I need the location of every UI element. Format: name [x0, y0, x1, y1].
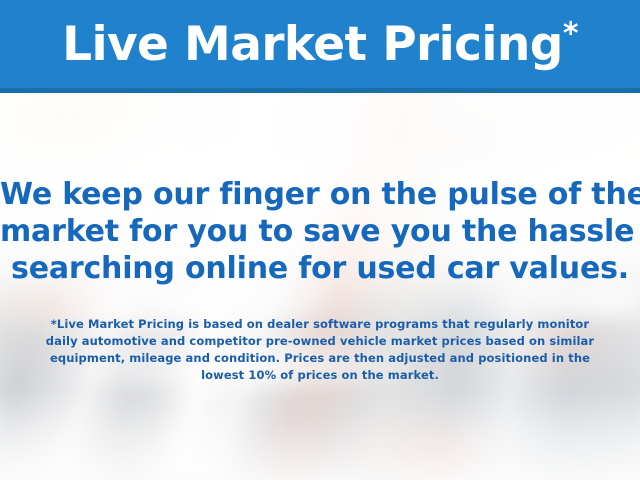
header-banner-bottom-edge: [0, 88, 640, 93]
disclaimer-line-2: daily automotive and competitor pre-owne…: [0, 333, 640, 350]
page-title-asterisk: *: [563, 16, 578, 51]
page-title: Live Market Pricing*: [62, 21, 578, 72]
live-market-pricing-banner: Live Market Pricing* We keep our finger …: [0, 0, 640, 480]
disclaimer-line-1: *Live Market Pricing is based on dealer …: [0, 316, 640, 333]
header-banner: Live Market Pricing*: [0, 0, 640, 93]
disclaimer-line-4: lowest 10% of prices on the market.: [0, 367, 640, 384]
disclaimer-line-3: equipment, mileage and condition. Prices…: [0, 350, 640, 367]
disclaimer-block: *Live Market Pricing is based on dealer …: [0, 316, 640, 384]
headline-line-2: market for you to save you the hassle of: [0, 213, 640, 250]
headline-block: We keep our finger on the pulse of the m…: [0, 176, 640, 287]
headline-line-1: We keep our finger on the pulse of the: [0, 176, 640, 213]
headline-line-3: searching online for used car values.: [0, 250, 640, 287]
page-title-text: Live Market Pricing: [62, 17, 563, 72]
